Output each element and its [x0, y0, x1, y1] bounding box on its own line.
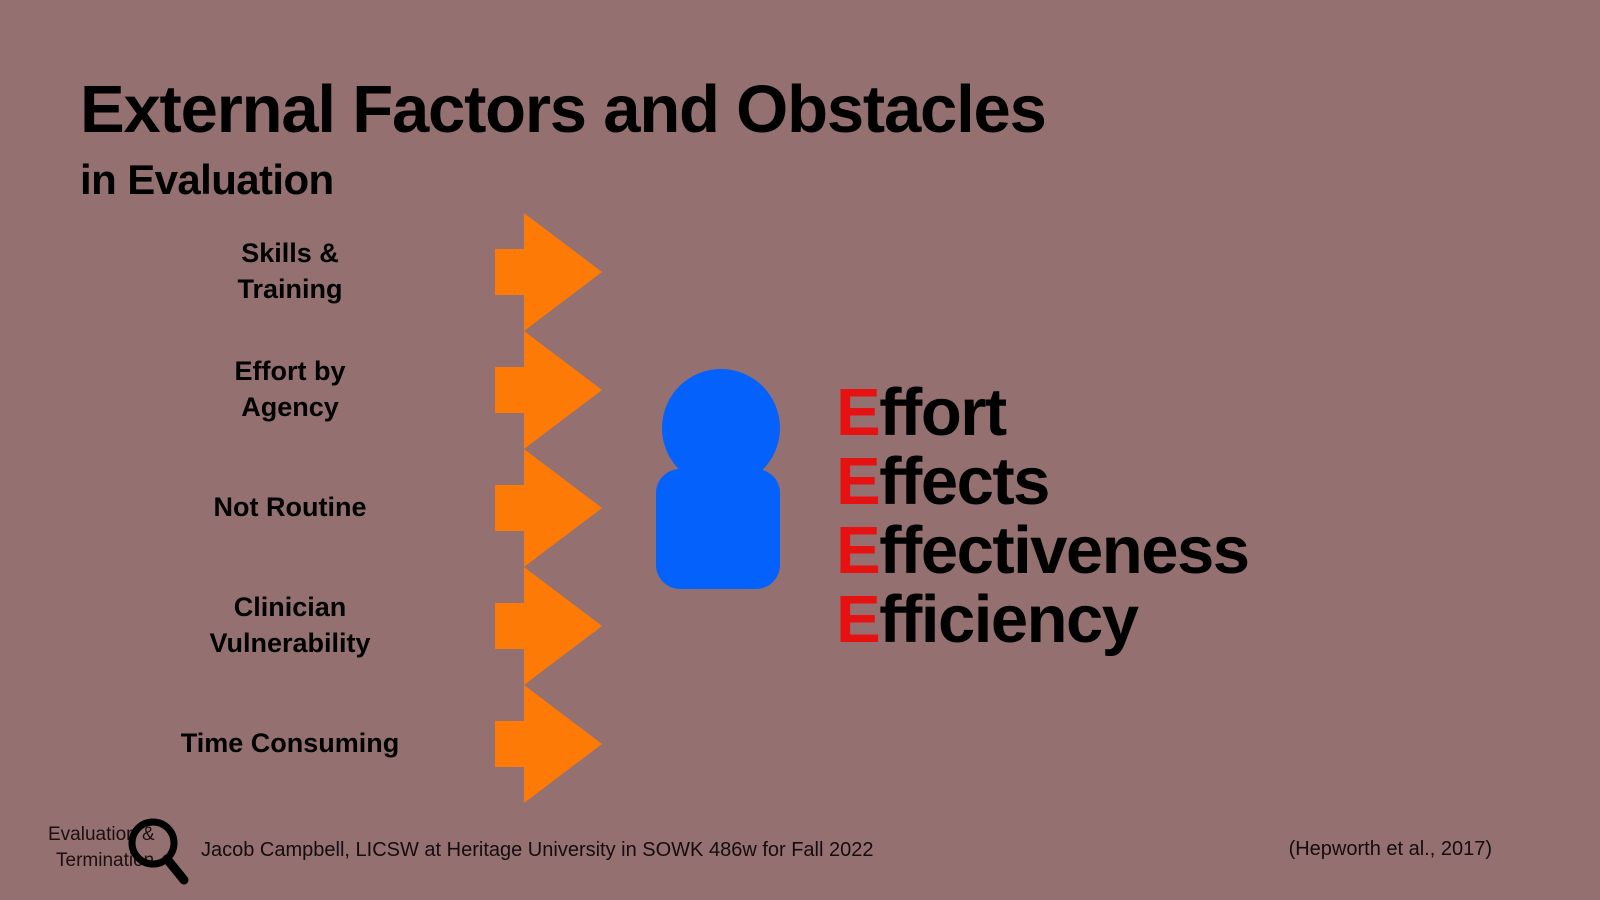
right-arrow-icon [480, 331, 602, 449]
right-arrow-icon [480, 449, 602, 567]
e-word-effort: Effort [836, 378, 1536, 447]
factor-row: Skills & Training [0, 213, 620, 331]
right-arrow-icon [480, 685, 602, 803]
magnifying-glass-icon [128, 815, 192, 887]
factor-label-effort-by-agency: Effort by Agency [120, 354, 460, 426]
e-word-effects: Effects [836, 447, 1536, 516]
e-word-remainder: ffects [879, 444, 1049, 519]
factor-label-time-consuming: Time Consuming [120, 726, 460, 762]
e-initial-letter: E [836, 582, 879, 657]
factor-label-not-routine: Not Routine [120, 490, 460, 526]
title-block: External Factors and Obstacles in Evalua… [80, 76, 1380, 201]
e-word-remainder: ffort [879, 375, 1005, 450]
external-factors-list: Skills & Training Effort by Agency Not R… [0, 213, 620, 813]
factor-row: Time Consuming [0, 685, 620, 803]
slide-canvas: External Factors and Obstacles in Evalua… [0, 0, 1600, 900]
factor-row: Clinician Vulnerability [0, 567, 620, 685]
e-initial-letter: E [836, 444, 879, 519]
page-subtitle: in Evaluation [80, 159, 1380, 201]
e-initial-letter: E [836, 513, 879, 588]
e-word-remainder: ffectiveness [879, 513, 1248, 588]
page-title: External Factors and Obstacles [80, 76, 1380, 143]
e-word-effectiveness: Effectiveness [836, 516, 1536, 585]
right-arrow-icon [480, 213, 602, 331]
factor-row: Effort by Agency [0, 331, 620, 449]
e-word-efficiency: Efficiency [836, 585, 1536, 654]
four-e-words-list: Effort Effects Effectiveness Efficiency [836, 378, 1536, 654]
e-initial-letter: E [836, 375, 879, 450]
footer-citation-text: (Hepworth et al., 2017) [1289, 838, 1492, 861]
right-arrow-icon [480, 567, 602, 685]
footer-credit-text: Jacob Campbell, LICSW at Heritage Univer… [201, 839, 874, 862]
factor-label-skills-training: Skills & Training [120, 236, 460, 308]
person-figure-icon [650, 368, 796, 596]
factor-row: Not Routine [0, 449, 620, 567]
factor-label-clinician-vulnerability: Clinician Vulnerability [120, 590, 460, 662]
e-word-remainder: fficiency [879, 582, 1137, 657]
